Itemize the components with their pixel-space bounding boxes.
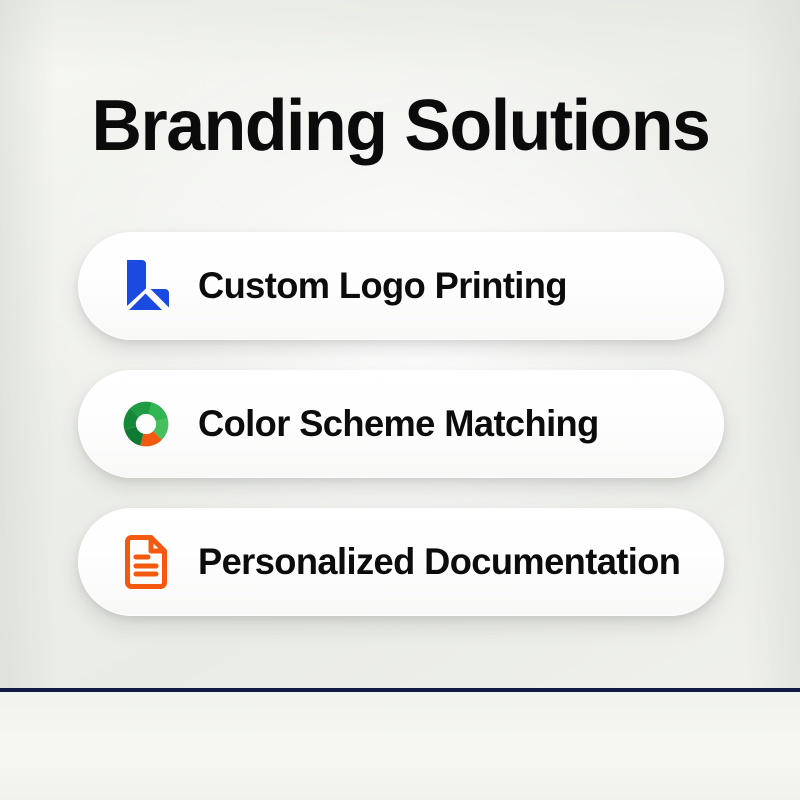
feature-card-personalized-documentation[interactable]: Personalized Documentation: [78, 508, 724, 616]
page-title: Branding Solutions: [91, 86, 709, 166]
poster-canvas: Branding Solutions Custom Logo Printing: [0, 0, 800, 800]
footer-area: [0, 692, 800, 800]
page-title-container: Branding Solutions: [0, 86, 800, 166]
feature-card-custom-logo-printing[interactable]: Custom Logo Printing: [78, 232, 724, 340]
feature-card-label: Custom Logo Printing: [198, 265, 567, 307]
document-lines-icon: [118, 533, 174, 591]
feature-card-list: Custom Logo Printing: [78, 232, 724, 616]
logo-l-mark-icon: [118, 257, 174, 315]
color-wheel-icon: [118, 395, 174, 453]
feature-card-label: Personalized Documentation: [198, 541, 680, 583]
feature-card-color-scheme-matching[interactable]: Color Scheme Matching: [78, 370, 724, 478]
bottom-divider: [0, 688, 800, 692]
feature-card-label: Color Scheme Matching: [198, 403, 599, 445]
